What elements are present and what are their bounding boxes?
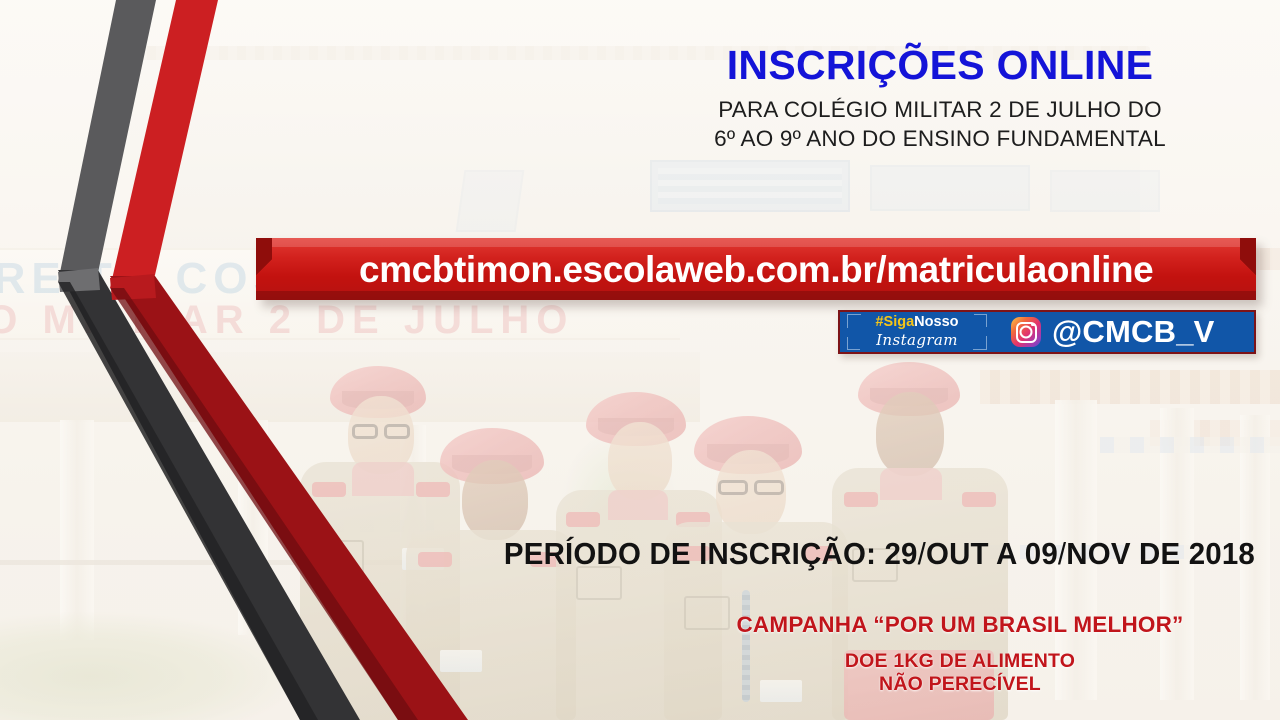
campaign-sub-line-2: NÃO PERECÍVEL <box>660 673 1260 696</box>
period-colon: : <box>866 536 884 571</box>
banner-bevel-left <box>256 238 272 300</box>
period-start-day: 29 <box>884 536 917 571</box>
poster-canvas: S REITO COS GIO MILITAR 2 DE JULHO <box>0 0 1280 720</box>
headline-block: INSCRIÇÕES ONLINE PARA COLÉGIO MILITAR 2… <box>620 44 1260 154</box>
url-banner[interactable]: cmcbtimon.escolaweb.com.br/matriculaonli… <box>256 238 1256 300</box>
subtitle-line-1: PARA COLÉGIO MILITAR 2 DE JULHO DO <box>620 96 1260 125</box>
follow-us-badge: #SigaNosso Instagram <box>847 312 987 352</box>
campaign-title: CAMPANHA “POR UM BRASIL MELHOR” <box>660 612 1260 638</box>
badge-corner-icon <box>974 314 987 327</box>
instagram-wordmark: Instagram <box>876 333 958 349</box>
follow-nosso: Nosso <box>914 314 958 330</box>
instagram-handle[interactable]: @CMCB_V <box>1052 314 1215 350</box>
building-window <box>650 160 850 212</box>
campaign-sub-line-1: DOE 1KG DE ALIMENTO <box>660 650 1260 673</box>
banner-bevel-right <box>1240 238 1256 300</box>
building-window <box>1050 170 1160 212</box>
registration-period: PERÍODO DE INSCRIÇÃO: 29/OUT A 09/NOV DE… <box>495 536 1255 572</box>
building-window <box>870 165 1030 211</box>
instagram-icon-dot <box>1031 323 1034 326</box>
instagram-bar[interactable]: #SigaNosso Instagram @CMCB_V <box>838 310 1256 354</box>
period-end-day: 09 <box>1025 536 1058 571</box>
period-middle: A <box>989 536 1025 571</box>
badge-corner-icon <box>847 337 860 350</box>
period-year: DE 2018 <box>1131 536 1255 571</box>
follow-us-line: #SigaNosso <box>875 315 958 330</box>
campaign-block: CAMPANHA “POR UM BRASIL MELHOR” DOE 1KG … <box>660 612 1260 697</box>
tile-accent <box>1100 437 1280 453</box>
period-sep-1: / <box>918 536 926 571</box>
instagram-icon <box>1011 317 1041 347</box>
period-label: PERÍODO DE INSCRIÇÃO <box>504 536 866 571</box>
campaign-subtitle: DOE 1KG DE ALIMENTO NÃO PERECÍVEL <box>660 650 1260 697</box>
period-end-month: NOV <box>1066 536 1130 571</box>
follow-hashtag: #Siga <box>875 314 914 330</box>
enrollment-url[interactable]: cmcbtimon.escolaweb.com.br/matriculaonli… <box>359 248 1153 291</box>
period-start-month: OUT <box>926 536 989 571</box>
subtitle-block: PARA COLÉGIO MILITAR 2 DE JULHO DO 6º AO… <box>620 96 1260 154</box>
chevron-graphic <box>0 0 620 720</box>
chevron-red-edge <box>110 288 418 720</box>
building-roof-right <box>980 370 1280 404</box>
page-title: INSCRIÇÕES ONLINE <box>620 44 1260 87</box>
subtitle-line-2: 6º AO 9º ANO DO ENSINO FUNDAMENTAL <box>620 125 1260 154</box>
chevron-gray-lower <box>58 270 360 720</box>
instagram-icon-lens <box>1020 326 1033 339</box>
